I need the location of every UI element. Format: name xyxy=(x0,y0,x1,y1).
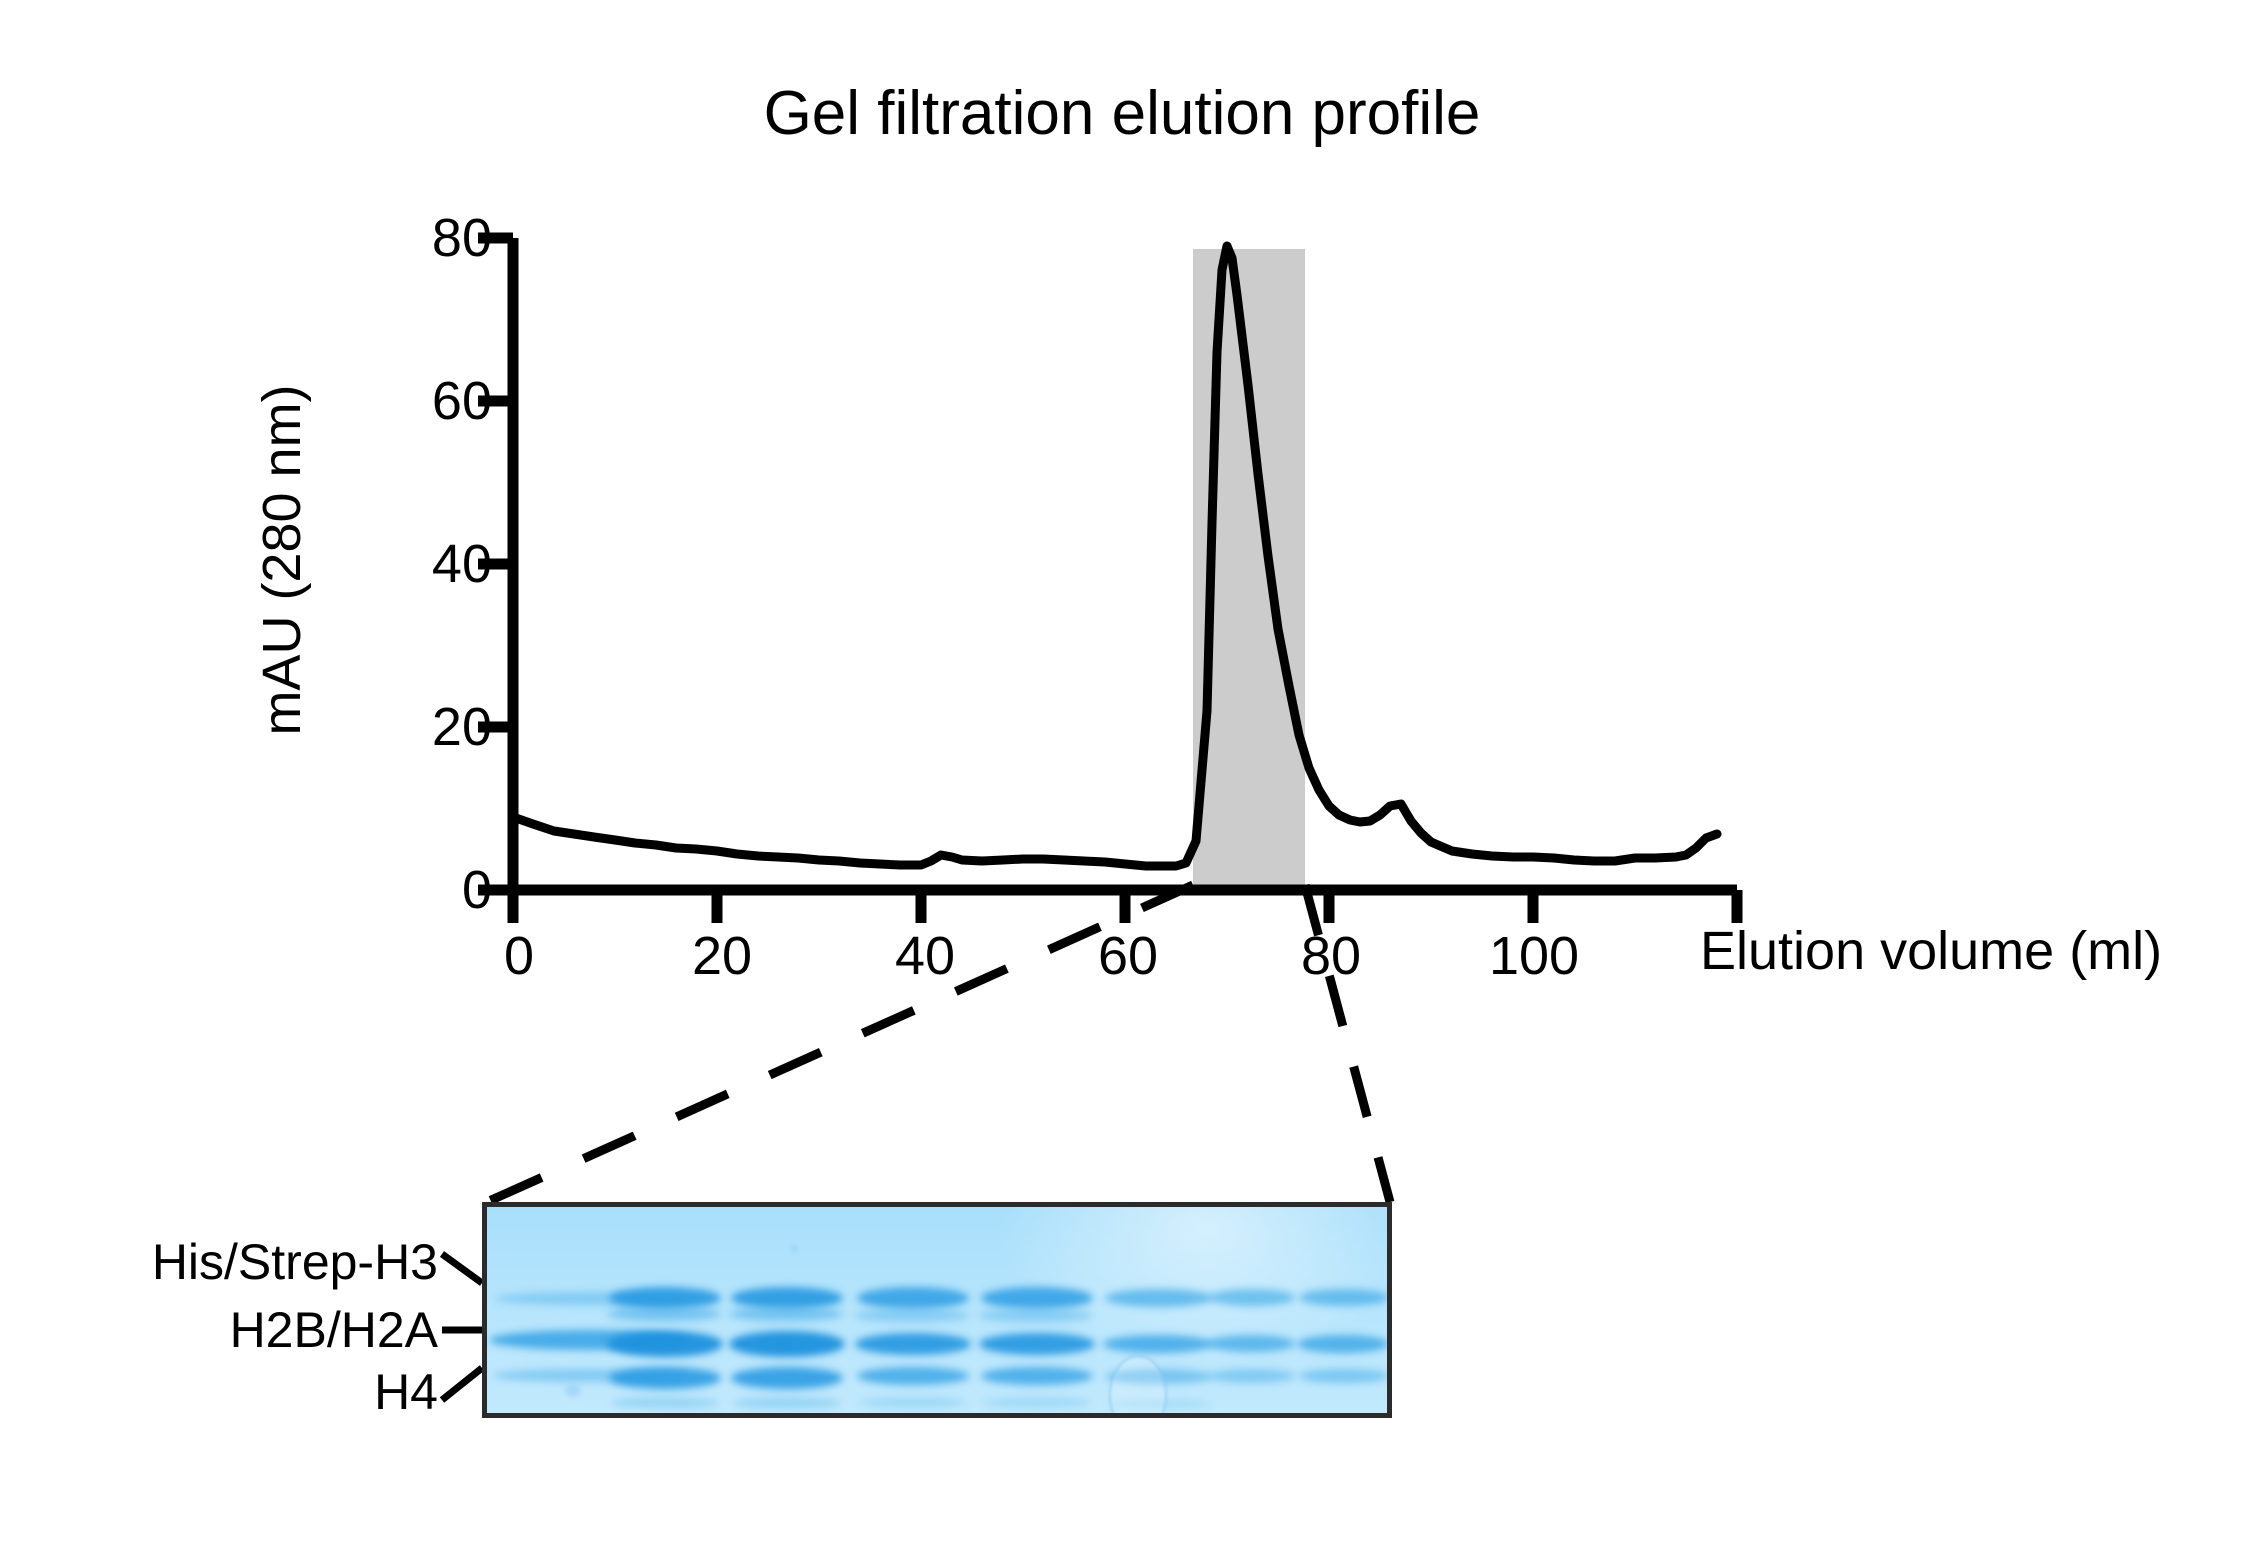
gel-filtration-figure: Gel filtration elution profile mAU (280 … xyxy=(0,0,2244,1546)
gel-band xyxy=(1209,1369,1295,1383)
gel-band xyxy=(611,1397,719,1409)
gel-band xyxy=(609,1367,721,1389)
gel-band xyxy=(855,1333,971,1355)
gel-band xyxy=(857,1367,969,1385)
gel-band xyxy=(607,1307,721,1321)
gel-band xyxy=(1105,1289,1213,1307)
gel-band xyxy=(981,1367,1093,1385)
gel-band xyxy=(979,1309,1093,1322)
gel-band xyxy=(1103,1335,1213,1353)
gel-background xyxy=(487,1207,1387,1413)
gel-band xyxy=(1299,1369,1389,1383)
gel-band xyxy=(1207,1335,1295,1352)
gel-band xyxy=(857,1287,969,1309)
gel-speck-artifact xyxy=(565,1385,581,1397)
gel-band xyxy=(983,1397,1091,1408)
gel-band xyxy=(1297,1335,1389,1353)
gel-band xyxy=(979,1333,1095,1355)
leader-line-h4 xyxy=(442,1368,482,1400)
gel-band xyxy=(855,1309,969,1322)
gel-band xyxy=(1209,1289,1295,1306)
gel-band xyxy=(729,1331,845,1357)
left-connector-line xyxy=(487,885,1193,1202)
sds-page-gel xyxy=(482,1202,1392,1418)
gel-band xyxy=(731,1287,843,1309)
gel-band xyxy=(731,1367,843,1389)
gel-band xyxy=(1299,1289,1389,1306)
gel-band xyxy=(981,1287,1093,1309)
gel-band xyxy=(607,1331,723,1357)
gel-band xyxy=(733,1397,841,1409)
leader-line-his-strep-h3 xyxy=(442,1254,482,1283)
gel-bubble-artifact xyxy=(1109,1355,1167,1418)
right-connector-line xyxy=(1305,885,1390,1202)
gel-speck-artifact xyxy=(791,1245,798,1252)
gel-band xyxy=(729,1307,843,1321)
chromatogram-trace xyxy=(513,246,1717,866)
gel-band xyxy=(609,1287,721,1309)
gel-band xyxy=(859,1397,967,1408)
